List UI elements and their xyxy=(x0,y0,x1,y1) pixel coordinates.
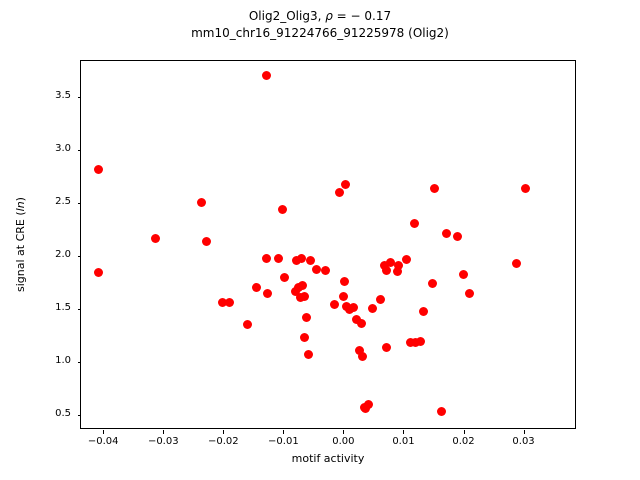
x-tick-label: 0.01 xyxy=(378,436,428,447)
scatter-point xyxy=(300,333,309,342)
x-axis-label: motif activity xyxy=(80,452,576,465)
scatter-point xyxy=(330,300,339,309)
y-axis-label: signal at CRE (ln) xyxy=(14,60,30,429)
x-tick-mark xyxy=(223,430,224,434)
y-tick-label: 3.5 xyxy=(31,90,71,101)
x-tick-mark xyxy=(343,430,344,434)
x-tick-label: −0.02 xyxy=(198,436,248,447)
scatter-point xyxy=(321,266,330,275)
scatter-point xyxy=(430,184,439,193)
scatter-point xyxy=(465,289,474,298)
x-tick-label: 0.00 xyxy=(318,436,368,447)
scatter-point xyxy=(94,268,103,277)
scatter-point xyxy=(512,259,521,268)
scatter-point xyxy=(340,277,349,286)
chart-title-line1: Olig2_Olig3, ρ = − 0.17 xyxy=(0,8,640,25)
scatter-point xyxy=(262,254,271,263)
y-tick-mark xyxy=(78,150,82,151)
scatter-point xyxy=(94,165,103,174)
chart-title-line1-prefix: Olig2_Olig3, xyxy=(249,9,325,23)
y-tick-label: 0.5 xyxy=(31,408,71,419)
x-tick-mark xyxy=(524,430,525,434)
scatter-point xyxy=(349,303,358,312)
y-tick-mark xyxy=(78,256,82,257)
scatter-point xyxy=(459,270,468,279)
chart-title: Olig2_Olig3, ρ = − 0.17 mm10_chr16_91224… xyxy=(0,8,640,42)
y-tick-mark xyxy=(78,309,82,310)
scatter-points-layer xyxy=(81,61,575,428)
scatter-point xyxy=(151,234,160,243)
scatter-point xyxy=(252,283,261,292)
chart-title-line2: mm10_chr16_91224766_91225978 (Olig2) xyxy=(0,25,640,42)
scatter-plot-figure: Olig2_Olig3, ρ = − 0.17 mm10_chr16_91224… xyxy=(0,0,640,480)
scatter-point xyxy=(442,229,451,238)
scatter-point xyxy=(278,205,287,214)
scatter-point xyxy=(382,266,391,275)
scatter-point xyxy=(419,307,428,316)
scatter-point xyxy=(274,254,283,263)
scatter-point xyxy=(262,71,271,80)
scatter-point xyxy=(298,281,307,290)
rho-symbol: ρ xyxy=(325,9,333,23)
scatter-point xyxy=(382,343,391,352)
scatter-point xyxy=(280,273,289,282)
x-tick-label: −0.01 xyxy=(258,436,308,447)
y-tick-label: 3.0 xyxy=(31,143,71,154)
x-tick-label: 0.03 xyxy=(499,436,549,447)
x-tick-label: −0.04 xyxy=(78,436,128,447)
scatter-point xyxy=(304,350,313,359)
scatter-point xyxy=(202,237,211,246)
scatter-point xyxy=(361,404,370,413)
scatter-point xyxy=(306,256,315,265)
scatter-point xyxy=(410,219,419,228)
scatter-point xyxy=(368,304,377,313)
x-tick-mark xyxy=(163,430,164,434)
scatter-point xyxy=(225,298,234,307)
scatter-point xyxy=(302,313,311,322)
scatter-point xyxy=(341,180,350,189)
y-axis-label-prefix: signal at CRE ( xyxy=(14,211,27,292)
scatter-point xyxy=(376,295,385,304)
x-tick-label: 0.02 xyxy=(439,436,489,447)
scatter-point xyxy=(357,319,366,328)
scatter-point xyxy=(393,267,402,276)
y-tick-label: 1.0 xyxy=(31,355,71,366)
x-tick-mark xyxy=(464,430,465,434)
scatter-point xyxy=(263,289,272,298)
chart-title-line1-suffix: = − 0.17 xyxy=(333,9,391,23)
x-tick-mark xyxy=(403,430,404,434)
x-tick-mark xyxy=(103,430,104,434)
scatter-point xyxy=(296,293,305,302)
scatter-point xyxy=(243,320,252,329)
y-axis-label-suffix: ) xyxy=(14,197,27,201)
y-tick-mark xyxy=(78,203,82,204)
x-tick-label: −0.03 xyxy=(138,436,188,447)
y-tick-mark xyxy=(78,362,82,363)
scatter-point xyxy=(521,184,530,193)
scatter-point xyxy=(312,265,321,274)
y-tick-mark xyxy=(78,415,82,416)
scatter-point xyxy=(358,352,367,361)
y-tick-label: 2.0 xyxy=(31,249,71,260)
y-axis-label-unit: ln xyxy=(14,201,27,211)
scatter-point xyxy=(339,292,348,301)
scatter-point xyxy=(402,255,411,264)
scatter-point xyxy=(416,337,425,346)
y-tick-label: 2.5 xyxy=(31,196,71,207)
scatter-point xyxy=(453,232,462,241)
scatter-point xyxy=(437,407,446,416)
scatter-point xyxy=(197,198,206,207)
y-tick-label: 1.5 xyxy=(31,302,71,313)
scatter-point xyxy=(428,279,437,288)
y-tick-mark xyxy=(78,97,82,98)
x-tick-mark xyxy=(283,430,284,434)
scatter-point xyxy=(297,254,306,263)
scatter-point xyxy=(335,188,344,197)
plot-axes: −0.04−0.03−0.02−0.010.000.010.020.03 0.5… xyxy=(80,60,576,429)
